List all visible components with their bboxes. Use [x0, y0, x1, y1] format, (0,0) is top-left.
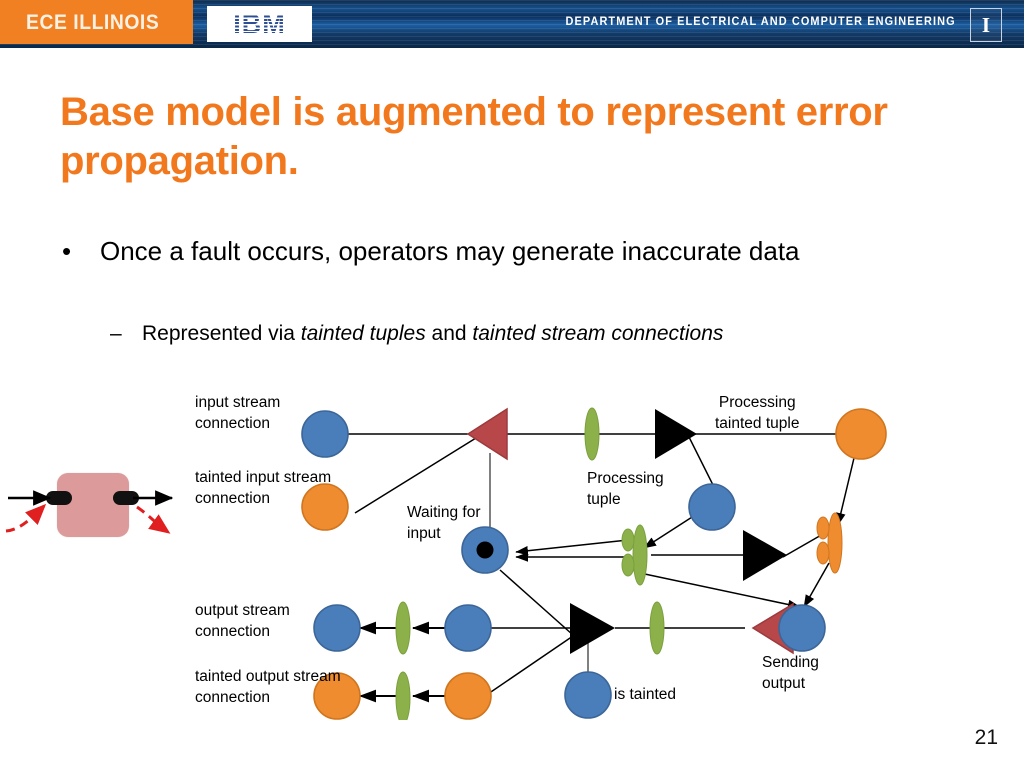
label-waiting-for-input: Waiting for input — [407, 503, 481, 544]
sub-bullet-emphasis-tainted-stream-connections: tainted stream connections — [472, 322, 723, 345]
ece-illinois-brand-text: ECE ILLINOIS — [26, 11, 159, 35]
bullet-text: Once a fault occurs, operators may gener… — [100, 235, 982, 268]
bullet-marker: • — [62, 235, 71, 268]
arc-green-compound-to-waiting-upper — [516, 540, 628, 552]
sub-bullet-item: – Represented via tainted tuples and tai… — [110, 320, 1010, 347]
petri-net-diagram: input stream connection tainted input st… — [185, 385, 915, 720]
sub-bullet-emphasis-tainted-tuples: tainted tuples — [301, 322, 426, 345]
sub-bullet-marker: – — [110, 320, 122, 347]
sub-bullet-prefix: Represented via — [142, 322, 301, 345]
label-processing-tainted-tuple: Processing tainted tuple — [715, 393, 799, 434]
ibm-logo-text: IBM — [210, 9, 309, 39]
illinois-block-i-icon: I — [970, 8, 1002, 42]
place-is-tainted — [565, 672, 611, 718]
place-processing-tainted-tuple — [836, 409, 886, 459]
place-tainted-output-buffer — [445, 673, 491, 719]
page-title: Base model is augmented to represent err… — [60, 88, 940, 186]
transition-red-input — [468, 409, 507, 459]
label-processing-tuple: Processing tuple — [587, 469, 664, 510]
operator-icon — [0, 452, 190, 557]
arc-bottom-orange-place-to-transition — [485, 636, 573, 696]
arc-orange-compound-to-sending-output — [804, 563, 829, 607]
place-processing-tuple-state — [689, 484, 735, 530]
illinois-i-glyph: I — [982, 15, 990, 36]
transition-process-tainted — [743, 530, 787, 581]
green-arc-marker-processing-tuple — [585, 408, 599, 460]
place-input-stream-connection — [302, 411, 348, 457]
arc-waiting-to-bottom-transition — [500, 570, 573, 635]
green-arc-marker-output — [396, 602, 410, 654]
sub-bullet-middle: and — [426, 322, 473, 345]
bullet-item: • Once a fault occurs, operators may gen… — [62, 235, 982, 268]
page-number: 21 — [975, 726, 998, 750]
arc-green-compound-to-sending-output — [640, 573, 800, 607]
orange-compound-arc-marker — [817, 513, 842, 573]
slide-header-bar: ECE ILLINOIS IBM DEPARTMENT OF ELECTRICA… — [0, 0, 1024, 48]
operator-tainted-output-arrow — [137, 507, 168, 532]
label-is-tainted: is tainted — [614, 685, 676, 706]
place-output-buffer — [445, 605, 491, 651]
green-arc-marker-tainted-output — [396, 672, 410, 720]
label-tainted-input-stream-connection: tainted input stream connection — [195, 468, 331, 509]
green-compound-arc-marker — [622, 525, 647, 585]
transition-send-output — [570, 603, 615, 654]
ibm-logo: IBM — [207, 6, 312, 42]
sub-bullet-text: Represented via tainted tuples and taint… — [142, 320, 1010, 347]
department-title: DEPARTMENT OF ELECTRICAL AND COMPUTER EN… — [566, 16, 956, 28]
operator-tainted-input-arrow — [6, 506, 44, 531]
transition-process-tuple — [655, 409, 697, 459]
place-sending-output — [779, 605, 825, 651]
label-sending-output: Sending output — [762, 653, 819, 694]
place-output-stream-connection — [314, 605, 360, 651]
label-input-stream-connection: input stream connection — [195, 393, 280, 434]
green-arc-marker-sending — [650, 602, 664, 654]
label-output-stream-connection: output stream connection — [195, 601, 290, 642]
label-tainted-output-stream-connection: tainted output stream connection — [195, 667, 341, 708]
arc-top-transition-to-mid-blue-place — [689, 437, 713, 485]
arc-tainted-input-to-red-transition — [355, 438, 476, 513]
arc-tainted-place-to-orange-compound — [838, 458, 854, 525]
